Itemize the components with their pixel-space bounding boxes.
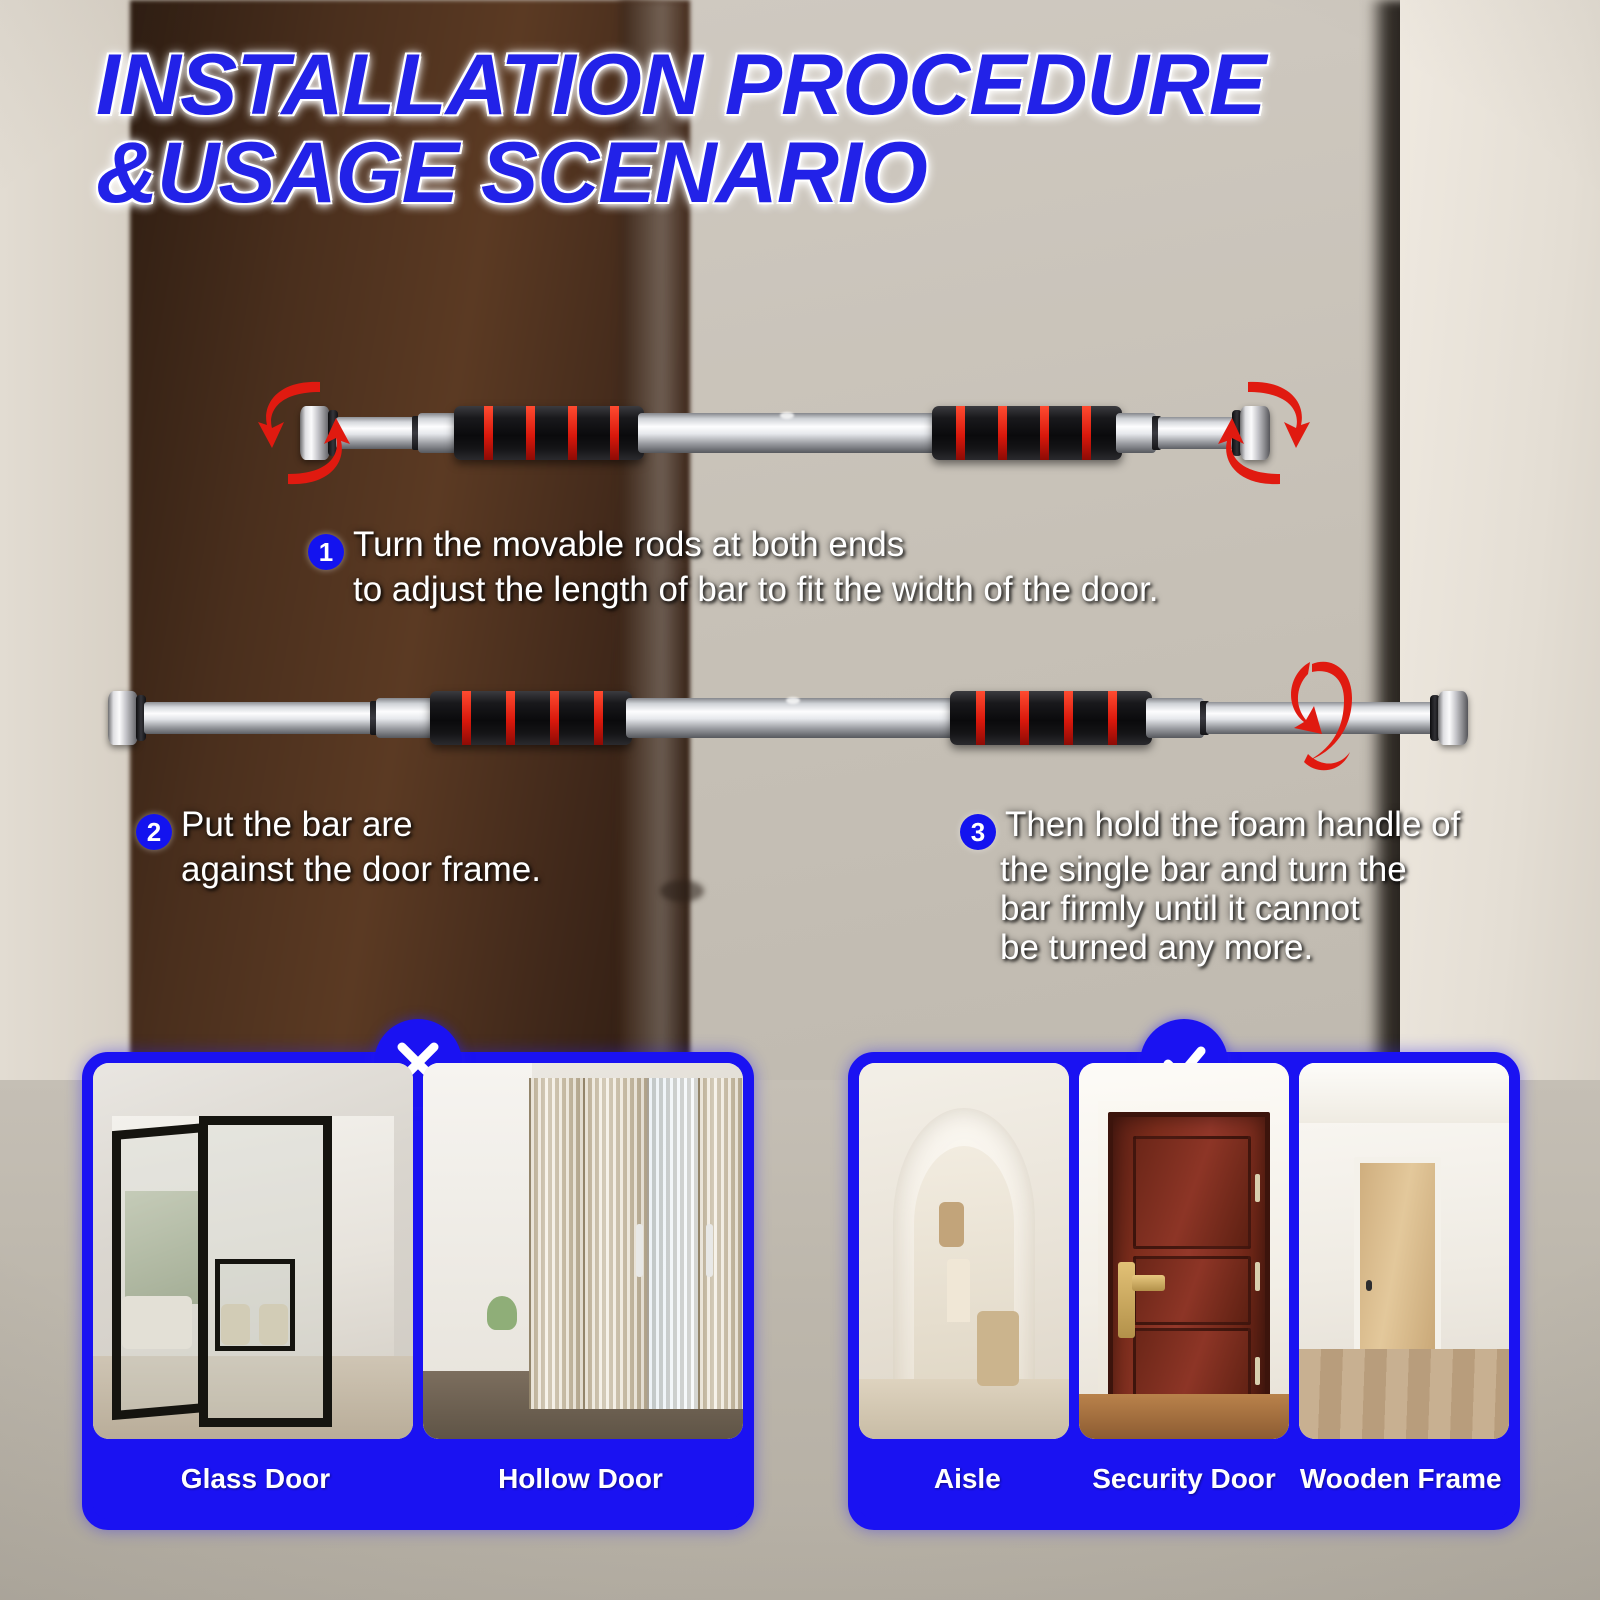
thumbnail-hollow-door[interactable] (423, 1063, 743, 1439)
thumbnail-aisle[interactable] (859, 1063, 1069, 1439)
title-line-1: INSTALLATION PROCEDURE (96, 37, 1265, 133)
bar-center-screw (780, 412, 794, 419)
not-suitable-labels: Glass Door Hollow Door (93, 1439, 743, 1519)
step-3-badge: 3 (960, 814, 996, 850)
rotation-arrow-right-icon (1218, 370, 1310, 496)
label-glass-door: Glass Door (93, 1463, 418, 1495)
title-line-2: &USAGE SCENARIO (96, 130, 1436, 218)
step-2-caption: 2Put the bar are against the door frame. (136, 805, 736, 889)
step-3-line-2: the single bar and turn the (960, 850, 1520, 889)
pull-up-bar-extended (300, 400, 1270, 466)
step-3-line-4: be turned any more. (960, 928, 1520, 967)
step-3-line-3: bar firmly until it cannot (960, 889, 1520, 928)
step-3-line-1: Then hold the foam handle of (1005, 805, 1460, 844)
bar-tube-left (418, 413, 458, 453)
suitable-panel[interactable]: Aisle Security Door Wooden Frame (848, 1052, 1520, 1530)
bar2-center-tube (626, 698, 956, 738)
label-security-door: Security Door (1076, 1463, 1293, 1495)
bar-tube-right (1116, 413, 1156, 453)
step-1-line-2: to adjust the length of bar to fit the w… (308, 570, 1368, 609)
bar2-end-cap-left (108, 691, 138, 745)
thumbnail-wooden-frame[interactable] (1299, 1063, 1509, 1439)
page-title: INSTALLATION PROCEDURE &USAGE SCENARIO (96, 42, 1436, 217)
suitable-thumbnails (859, 1063, 1509, 1439)
step-1-badge: 1 (308, 534, 344, 570)
foam-grip-right (932, 406, 1122, 460)
step-2-badge: 2 (136, 814, 172, 850)
thumbnail-security-door[interactable] (1079, 1063, 1289, 1439)
pull-up-bar-installed (108, 685, 1468, 751)
step-2-line-1: Put the bar are (181, 805, 413, 844)
step-2-line-2: against the door frame. (136, 850, 736, 889)
label-wooden-frame: Wooden Frame (1292, 1463, 1509, 1495)
bar-center-tube (638, 413, 938, 453)
bar2-adjust-rod-left (144, 702, 374, 734)
bar2-center-screw (786, 697, 800, 704)
bar2-end-cap-right (1438, 691, 1468, 745)
step-3-caption: 3Then hold the foam handle of the single… (960, 805, 1520, 968)
foam-grip-right-2 (950, 691, 1152, 745)
not-suitable-panel[interactable]: Glass Door Hollow Door (82, 1052, 754, 1530)
infographic-canvas: INSTALLATION PROCEDURE &USAGE SCENARIO (0, 0, 1600, 1600)
label-aisle: Aisle (859, 1463, 1076, 1495)
bar2-tube-left (376, 698, 434, 738)
step-1-line-1: Turn the movable rods at both ends (353, 525, 904, 564)
thumbnail-glass-door[interactable] (93, 1063, 413, 1439)
rotation-arrow-tighten-icon (1288, 648, 1358, 778)
suitable-labels: Aisle Security Door Wooden Frame (859, 1439, 1509, 1519)
rotation-arrow-left-icon (258, 370, 350, 496)
step-1-caption: 1Turn the movable rods at both ends to a… (308, 525, 1368, 609)
bar2-tube-right (1146, 698, 1204, 738)
foam-grip-left (454, 406, 644, 460)
foam-grip-left-2 (430, 691, 632, 745)
label-hollow-door: Hollow Door (418, 1463, 743, 1495)
not-suitable-thumbnails (93, 1063, 743, 1439)
